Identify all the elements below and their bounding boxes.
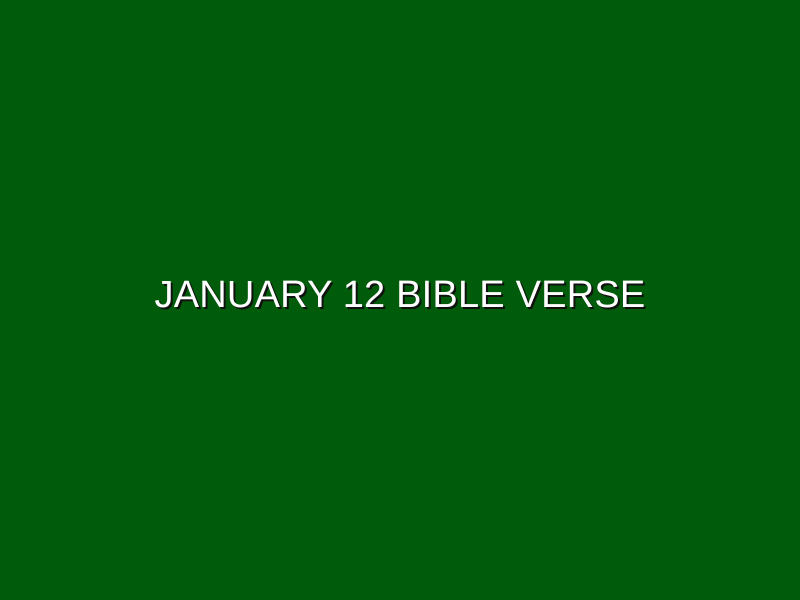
title-card: JANUARY 12 BIBLE VERSE [0, 0, 800, 600]
page-title: JANUARY 12 BIBLE VERSE [0, 276, 800, 314]
